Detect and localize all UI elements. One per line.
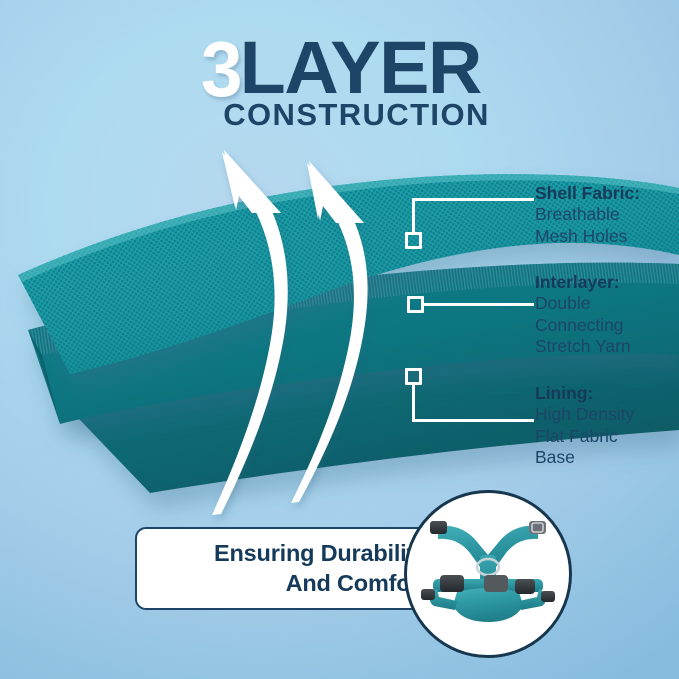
callout-line: High Density	[535, 404, 679, 425]
callout-body-interlayer: Double Connecting Stretch Yarn	[535, 293, 679, 357]
callout-line: Breathable	[535, 204, 679, 225]
connector-box-shell	[405, 232, 422, 249]
connector-line-horizontal-shell	[412, 198, 534, 201]
connector-line-horizontal-lining	[412, 419, 534, 422]
title-number: 3	[201, 36, 241, 103]
product-photo-circle	[404, 490, 572, 658]
callout-body-shell: Breathable Mesh Holes	[535, 204, 679, 247]
connector-line-vertical-lining	[412, 385, 415, 422]
callout-line: Base	[535, 447, 679, 468]
infographic-canvas: 3 LAYER CONSTRUCTION Shell Fabric: Breat…	[0, 0, 679, 679]
callout-line: Mesh Holes	[535, 226, 679, 247]
callout-line: Flat Fabric	[535, 426, 679, 447]
callout-line: Stretch Yarn	[535, 336, 679, 357]
connector-line-vertical-shell	[412, 198, 415, 234]
connector-box-interlayer	[407, 296, 424, 313]
title-word: LAYER	[240, 36, 481, 100]
page-title: 3 LAYER CONSTRUCTION	[0, 36, 679, 136]
connector-line-horizontal-interlayer	[424, 303, 534, 306]
tagline-line-1: Ensuring Durability	[214, 539, 427, 568]
tagline-banner: Ensuring Durability And Comfort	[135, 527, 445, 610]
callout-title-lining: Lining:	[535, 383, 679, 404]
callout-shell-fabric: Shell Fabric: Breathable Mesh Holes	[535, 183, 679, 247]
callout-lining: Lining: High Density Flat Fabric Base	[535, 383, 679, 468]
callout-interlayer: Interlayer: Double Connecting Stretch Ya…	[535, 272, 679, 357]
callout-line: Double	[535, 293, 679, 314]
callout-title-interlayer: Interlayer:	[535, 272, 679, 293]
dog-harness-icon	[407, 493, 569, 655]
callout-line: Connecting	[535, 315, 679, 336]
connector-box-lining	[405, 368, 422, 385]
callout-body-lining: High Density Flat Fabric Base	[535, 404, 679, 468]
callout-title-shell: Shell Fabric:	[535, 183, 679, 204]
